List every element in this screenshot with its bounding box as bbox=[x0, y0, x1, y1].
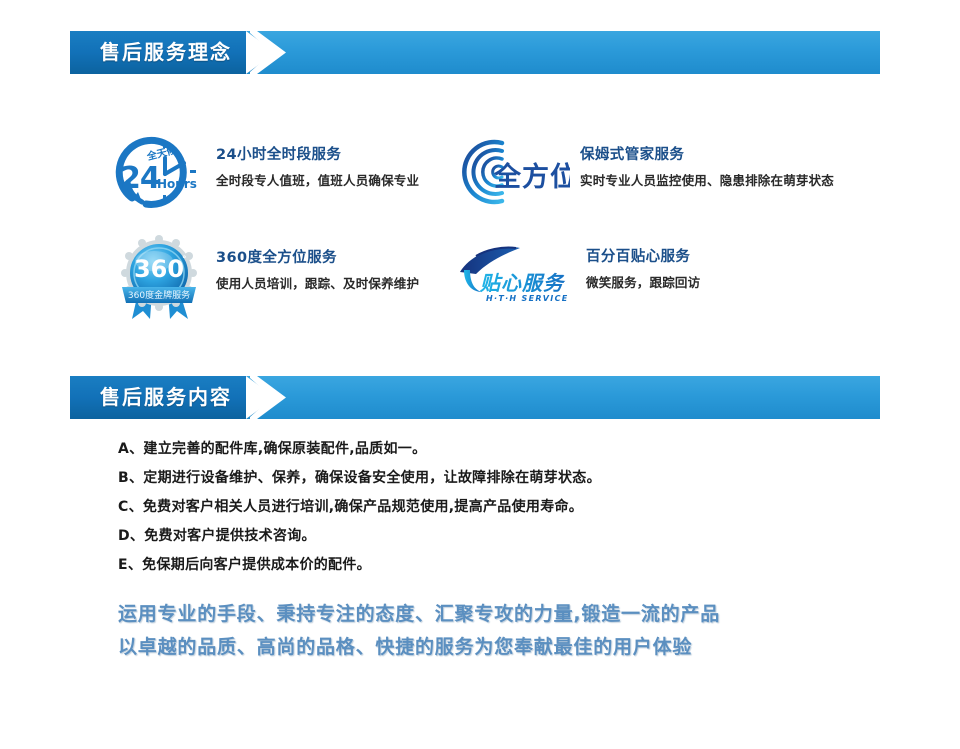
feature-subtitle: 实时专业人员监控使用、隐患排除在萌芽状态 bbox=[580, 173, 834, 189]
svg-text:°: ° bbox=[182, 255, 187, 265]
feature-text: 保姆式管家服务 实时专业人员监控使用、隐患排除在萌芽状态 bbox=[580, 132, 834, 189]
list-item: A、建立完善的配件库,确保原装配件,品质如一。 bbox=[118, 435, 818, 464]
feature-subtitle: 微笑服务，跟踪回访 bbox=[586, 275, 700, 291]
feature-item-all-round: 全方位 保姆式管家服务 实时专业人员监控使用、隐患排除在萌芽状态 bbox=[458, 132, 834, 212]
banner-after-sales-content: 售后服务内容 bbox=[70, 376, 880, 419]
feature-item-360: 360 ° 360度金牌服务 360度全方位服务 使用人员培训，跟踪、及时保养维… bbox=[112, 235, 419, 321]
svg-text:Hours: Hours bbox=[157, 177, 197, 191]
feature-item-heartfelt-service: 贴心服务 H·T·H SERVICE 百分百贴心服务 微笑服务，跟踪回访 bbox=[458, 242, 700, 304]
banner-title: 售后服务内容 bbox=[100, 376, 232, 419]
svg-text:24: 24 bbox=[120, 161, 160, 196]
list-item: E、免保期后向客户提供成本价的配件。 bbox=[118, 551, 818, 580]
list-item: D、免费对客户提供技术咨询。 bbox=[118, 522, 818, 551]
list-item: B、定期进行设备维护、保养，确保设备安全使用，让故障排除在萌芽状态。 bbox=[118, 464, 818, 493]
slogan-block: 运用专业的手段、秉持专注的态度、汇聚专攻的力量,锻造一流的产品 以卓越的品质、高… bbox=[118, 598, 720, 664]
all-round-arcs-icon: 全方位 bbox=[458, 132, 570, 212]
feature-title: 24小时全时段服务 bbox=[216, 146, 419, 164]
feature-subtitle: 全时段专人值班，值班人员确保专业 bbox=[216, 173, 419, 189]
feature-text: 360度全方位服务 使用人员培训，跟踪、及时保养维护 bbox=[216, 235, 419, 292]
svg-text:贴心服务: 贴心服务 bbox=[479, 271, 566, 295]
chevron-right-icon bbox=[246, 31, 294, 74]
360-medal-badge-icon: 360 ° 360度金牌服务 bbox=[112, 235, 208, 321]
banner-after-sales-philosophy: 售后服务理念 bbox=[70, 31, 880, 74]
svg-text:H·T·H SERVICE: H·T·H SERVICE bbox=[486, 294, 569, 303]
feature-list: 全天候 24 Hours 24小时全时段服务 全时段专人值班，值班人员确保专业 bbox=[0, 120, 960, 335]
feature-title: 百分百贴心服务 bbox=[586, 248, 700, 266]
banner-title: 售后服务理念 bbox=[100, 31, 232, 74]
feature-title: 保姆式管家服务 bbox=[580, 146, 834, 164]
svg-text:全方位: 全方位 bbox=[493, 161, 570, 193]
heartfelt-service-logo-icon: 贴心服务 H·T·H SERVICE bbox=[458, 242, 576, 304]
slogan-line: 运用专业的手段、秉持专注的态度、汇聚专攻的力量,锻造一流的产品 bbox=[118, 598, 720, 631]
feature-text: 24小时全时段服务 全时段专人值班，值班人员确保专业 bbox=[216, 132, 419, 189]
svg-text:360: 360 bbox=[134, 255, 184, 283]
after-sales-service-page: 售后服务理念 全天候 bbox=[0, 0, 960, 749]
slogan-line: 以卓越的品质、高尚的品格、快捷的服务为您奉献最佳的用户体验 bbox=[118, 631, 720, 664]
feature-item-24-hours: 全天候 24 Hours 24小时全时段服务 全时段专人值班，值班人员确保专业 bbox=[112, 132, 419, 212]
list-item: C、免费对客户相关人员进行培训,确保产品规范使用,提高产品使用寿命。 bbox=[118, 493, 818, 522]
medal-ribbon-label: 360度金牌服务 bbox=[128, 289, 190, 301]
24-hours-clock-icon: 全天候 24 Hours bbox=[112, 132, 208, 212]
chevron-right-icon bbox=[246, 376, 294, 419]
feature-subtitle: 使用人员培训，跟踪、及时保养维护 bbox=[216, 276, 419, 292]
feature-title: 360度全方位服务 bbox=[216, 249, 419, 267]
service-item-list: A、建立完善的配件库,确保原装配件,品质如一。 B、定期进行设备维护、保养，确保… bbox=[118, 435, 818, 580]
feature-text: 百分百贴心服务 微笑服务，跟踪回访 bbox=[586, 242, 700, 291]
